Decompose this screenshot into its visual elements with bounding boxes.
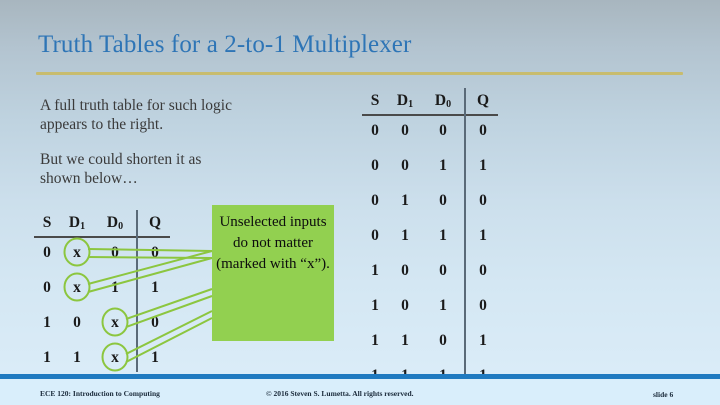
callout-leader-line <box>88 257 212 258</box>
footer-slide-number: slide 6 <box>653 390 673 399</box>
callout-leader-line <box>126 318 212 362</box>
footer-copyright: © 2016 Steven S. Lumetta. All rights res… <box>266 389 414 398</box>
dont-care-circle <box>65 274 90 301</box>
dont-care-circle <box>103 344 128 371</box>
annotation-overlay <box>0 0 720 405</box>
dont-care-circle <box>103 309 128 336</box>
slide-canvas: Truth Tables for a 2-to-1 Multiplexer A … <box>0 0 720 405</box>
footer-course: ECE 120: Introduction to Computing <box>40 389 160 398</box>
dont-care-circle <box>65 239 90 266</box>
callout-leader-line <box>88 251 212 284</box>
callout-leader-line <box>126 289 212 319</box>
callout-leader-line <box>88 258 212 292</box>
callout-leader-line <box>126 296 212 327</box>
callout-leader-line <box>126 311 212 354</box>
callout-leader-line <box>88 249 212 251</box>
